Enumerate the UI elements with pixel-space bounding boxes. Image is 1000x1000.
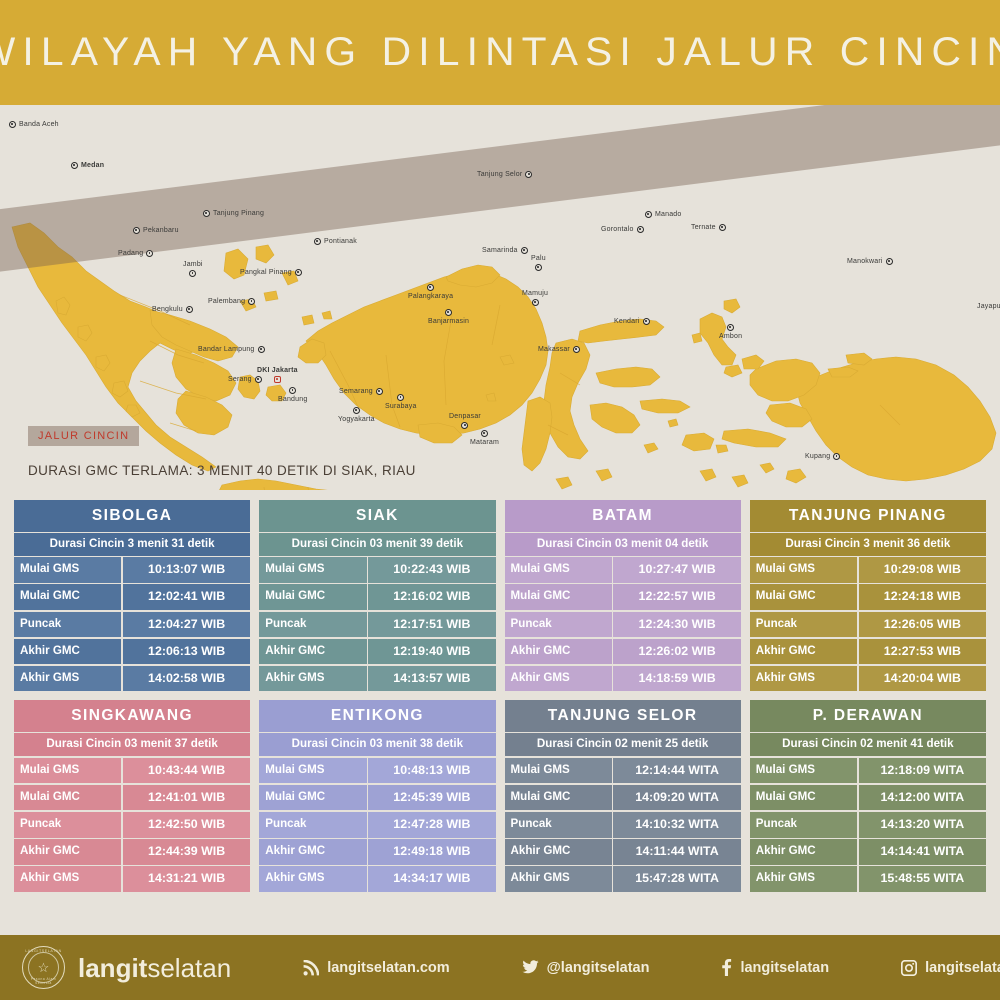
map-city-marker: DKI Jakarta — [257, 367, 298, 383]
social-label: langitselatanmedia — [925, 960, 1000, 976]
row-label: Mulai GMS — [14, 557, 121, 583]
row-label: Mulai GMS — [505, 758, 612, 784]
card-data-row: Puncak12:24:30 WIB — [505, 612, 741, 638]
row-value: 10:48:13 WIB — [368, 758, 495, 784]
city-label: DKI Jakarta — [257, 367, 298, 374]
row-label: Puncak — [259, 812, 366, 838]
instagram-icon — [901, 960, 917, 976]
city-label: Ternate — [691, 224, 716, 231]
card-data-row: Akhir GMC12:19:40 WIB — [259, 639, 495, 665]
row-value: 12:27:53 WIB — [859, 639, 986, 665]
row-value: 15:48:55 WITA — [859, 866, 986, 892]
row-label: Mulai GMC — [259, 584, 366, 610]
row-value: 10:43:44 WIB — [123, 758, 250, 784]
row-label: Akhir GMC — [505, 839, 612, 865]
city-label: Serang — [228, 376, 252, 383]
card-data-row: Akhir GMS14:20:04 WIB — [750, 666, 986, 692]
social-label: langitselatan — [740, 960, 829, 976]
card-duration: Durasi Cincin 03 menit 04 detik — [505, 533, 741, 556]
city-dot-icon — [445, 309, 452, 316]
city-card: P. DERAWANDurasi Cincin 02 menit 41 deti… — [750, 700, 986, 891]
row-value: 14:09:20 WITA — [613, 785, 740, 811]
card-data-row: Akhir GMS15:47:28 WITA — [505, 866, 741, 892]
map-city-marker: Banjarmasin — [428, 309, 469, 325]
city-label: Tanjung Selor — [477, 171, 522, 178]
map-city-marker: Manado — [645, 211, 682, 218]
city-dot-icon — [314, 238, 321, 245]
row-label: Puncak — [505, 612, 612, 638]
city-dot-icon — [727, 324, 734, 331]
row-value: 14:13:57 WIB — [368, 666, 495, 692]
map-city-marker: Padang — [118, 250, 153, 257]
city-dot-icon — [203, 210, 210, 217]
card-city-name: TANJUNG SELOR — [505, 700, 741, 732]
row-value: 12:26:02 WIB — [613, 639, 740, 665]
map-city-marker: Bandar Lampung — [198, 346, 265, 353]
city-dot-icon — [9, 121, 16, 128]
city-label: Mamuju — [522, 290, 548, 297]
row-label: Mulai GMS — [750, 758, 857, 784]
city-dot-icon — [295, 269, 302, 276]
row-label: Akhir GMC — [750, 839, 857, 865]
city-dot-icon — [274, 376, 281, 383]
card-data-row: Puncak12:47:28 WIB — [259, 812, 495, 838]
city-label: Jambi — [183, 261, 203, 268]
card-data-row: Mulai GMS10:13:07 WIB — [14, 557, 250, 583]
city-label: Banjarmasin — [428, 318, 469, 325]
card-data-row: Akhir GMS14:34:17 WIB — [259, 866, 495, 892]
city-dot-icon — [637, 226, 644, 233]
map-city-marker: Gorontalo — [601, 226, 644, 233]
row-value: 12:16:02 WIB — [368, 584, 495, 610]
city-dot-icon — [481, 430, 488, 437]
row-value: 12:22:57 WIB — [613, 584, 740, 610]
city-card: ENTIKONGDurasi Cincin 03 menit 38 detikM… — [259, 700, 495, 891]
row-label: Akhir GMC — [259, 639, 366, 665]
legend-jalur-cincin: JALUR CINCIN — [28, 426, 139, 446]
card-duration: Durasi Cincin 03 menit 39 detik — [259, 533, 495, 556]
card-data-row: Mulai GMS10:22:43 WIB — [259, 557, 495, 583]
row-label: Akhir GMS — [750, 666, 857, 692]
row-label: Mulai GMS — [505, 557, 612, 583]
card-data-row: Akhir GMS14:13:57 WIB — [259, 666, 495, 692]
city-dot-icon — [461, 422, 468, 429]
row-value: 12:18:09 WITA — [859, 758, 986, 784]
card-data-row: Akhir GMC12:26:02 WIB — [505, 639, 741, 665]
card-duration: Durasi Cincin 02 menit 25 detik — [505, 733, 741, 756]
city-label: Kupang — [805, 453, 830, 460]
city-label: Palu — [531, 255, 546, 262]
row-label: Puncak — [750, 612, 857, 638]
page-title: WILAYAH YANG DILINTASI JALUR CINCIN — [0, 30, 1000, 75]
row-value: 10:27:47 WIB — [613, 557, 740, 583]
card-data-row: Puncak12:26:05 WIB — [750, 612, 986, 638]
card-data-row: Puncak12:17:51 WIB — [259, 612, 495, 638]
row-value: 12:02:41 WIB — [123, 584, 250, 610]
city-label: Manokwari — [847, 258, 883, 265]
row-value: 12:42:50 WIB — [123, 812, 250, 838]
seal-bottom-text: Pesona Alam Semesta — [23, 977, 64, 985]
map-city-marker: Denpasar — [449, 413, 481, 429]
city-dot-icon — [189, 270, 196, 277]
card-data-row: Mulai GMC12:24:18 WIB — [750, 584, 986, 610]
row-value: 15:47:28 WITA — [613, 866, 740, 892]
social-link-twitter[interactable]: @langitselatan — [522, 960, 650, 976]
city-card: SINGKAWANGDurasi Cincin 03 menit 37 deti… — [14, 700, 250, 891]
langitselatan-seal-icon: LANGITSELATAN ☆ Pesona Alam Semesta — [22, 946, 65, 989]
row-value: 14:13:20 WITA — [859, 812, 986, 838]
card-data-row: Akhir GMC12:06:13 WIB — [14, 639, 250, 665]
row-label: Akhir GMS — [750, 866, 857, 892]
city-dot-icon — [186, 306, 193, 313]
map-city-marker: Ternate — [691, 224, 726, 231]
city-label: Padang — [118, 250, 143, 257]
brand-light: selatan — [147, 953, 231, 983]
city-dot-icon — [427, 284, 434, 291]
map-city-marker: Makassar — [538, 346, 580, 353]
card-data-row: Akhir GMS14:02:58 WIB — [14, 666, 250, 692]
city-label: Palembang — [208, 298, 245, 305]
social-link-rss[interactable]: langitselatan.com — [303, 960, 449, 976]
card-data-row: Akhir GMC12:27:53 WIB — [750, 639, 986, 665]
card-duration: Durasi Cincin 3 menit 36 detik — [750, 533, 986, 556]
row-label: Akhir GMC — [750, 639, 857, 665]
city-label: Pangkal Pinang — [240, 269, 292, 276]
map-city-marker: Palembang — [208, 298, 255, 305]
social-label: langitselatan.com — [327, 960, 449, 976]
city-label: Bandar Lampung — [198, 346, 255, 353]
card-data-row: Mulai GMS10:27:47 WIB — [505, 557, 741, 583]
card-duration: Durasi Cincin 03 menit 38 detik — [259, 733, 495, 756]
card-data-row: Mulai GMS12:14:44 WITA — [505, 758, 741, 784]
card-data-row: Mulai GMS12:18:09 WITA — [750, 758, 986, 784]
card-duration: Durasi Cincin 02 menit 41 detik — [750, 733, 986, 756]
card-data-row: Akhir GMS15:48:55 WITA — [750, 866, 986, 892]
row-label: Puncak — [14, 812, 121, 838]
city-dot-icon — [289, 387, 296, 394]
social-link-instagram[interactable]: langitselatanmedia — [901, 960, 1000, 976]
row-label: Mulai GMS — [14, 758, 121, 784]
row-value: 12:24:18 WIB — [859, 584, 986, 610]
row-label: Akhir GMS — [14, 666, 121, 692]
map-city-marker: Kendari — [614, 318, 650, 325]
city-label: Ambon — [719, 333, 742, 340]
row-label: Mulai GMC — [505, 584, 612, 610]
card-duration: Durasi Cincin 3 menit 31 detik — [14, 533, 250, 556]
card-data-row: Akhir GMS14:18:59 WIB — [505, 666, 741, 692]
row-label: Mulai GMS — [259, 758, 366, 784]
card-city-name: BATAM — [505, 500, 741, 532]
city-label: Jayapura — [977, 303, 1000, 310]
facebook-icon — [721, 959, 732, 976]
card-data-row: Akhir GMC12:49:18 WIB — [259, 839, 495, 865]
city-dot-icon — [353, 407, 360, 414]
map-caption: DURASI GMC TERLAMA: 3 MENIT 40 DETIK DI … — [28, 463, 416, 478]
city-dot-icon — [833, 453, 840, 460]
city-dot-icon — [521, 247, 528, 254]
city-label: Medan — [81, 162, 104, 169]
city-label: Palangkaraya — [408, 293, 453, 300]
card-data-row: Puncak12:42:50 WIB — [14, 812, 250, 838]
card-data-row: Mulai GMC14:09:20 WITA — [505, 785, 741, 811]
row-value: 14:20:04 WIB — [859, 666, 986, 692]
row-value: 14:11:44 WITA — [613, 839, 740, 865]
map-city-marker: Pangkal Pinang — [240, 269, 302, 276]
page-header: WILAYAH YANG DILINTASI JALUR CINCIN — [0, 0, 1000, 105]
row-value: 12:14:44 WITA — [613, 758, 740, 784]
social-link-facebook[interactable]: langitselatan — [721, 959, 829, 976]
row-label: Mulai GMS — [259, 557, 366, 583]
map-city-marker: Pekanbaru — [133, 227, 179, 234]
map-city-marker: Jayapura — [977, 303, 1000, 310]
city-dot-icon — [146, 250, 153, 257]
city-card: BATAMDurasi Cincin 03 menit 04 detikMula… — [505, 500, 741, 691]
map-city-marker: Tanjung Pinang — [203, 210, 264, 217]
row-label: Mulai GMS — [750, 557, 857, 583]
map-city-marker: Palu — [531, 255, 546, 271]
row-value: 12:45:39 WIB — [368, 785, 495, 811]
row-value: 12:41:01 WIB — [123, 785, 250, 811]
card-data-row: Mulai GMS10:29:08 WIB — [750, 557, 986, 583]
row-value: 12:04:27 WIB — [123, 612, 250, 638]
card-data-row: Mulai GMC12:41:01 WIB — [14, 785, 250, 811]
map-city-marker: Samarinda — [482, 247, 528, 254]
city-dot-icon — [643, 318, 650, 325]
card-data-row: Puncak12:04:27 WIB — [14, 612, 250, 638]
city-label: Bandung — [278, 396, 307, 403]
row-value: 10:29:08 WIB — [859, 557, 986, 583]
map-city-marker: Bengkulu — [152, 306, 193, 313]
map-city-marker: Semarang — [339, 388, 383, 395]
card-data-row: Akhir GMS14:31:21 WIB — [14, 866, 250, 892]
card-city-name: ENTIKONG — [259, 700, 495, 732]
social-label: @langitselatan — [547, 960, 650, 976]
row-value: 12:47:28 WIB — [368, 812, 495, 838]
city-dot-icon — [532, 299, 539, 306]
row-label: Akhir GMS — [505, 666, 612, 692]
card-city-name: SINGKAWANG — [14, 700, 250, 732]
map-city-marker: Bandung — [278, 387, 307, 403]
social-links: langitselatan.com@langitselatanlangitsel… — [231, 959, 1000, 976]
map-container: Banda AcehMedanTanjung PinangPekanbaruPa… — [0, 105, 1000, 490]
city-card: SIBOLGADurasi Cincin 3 menit 31 detikMul… — [14, 500, 250, 691]
city-dot-icon — [71, 162, 78, 169]
card-data-row: Puncak14:10:32 WITA — [505, 812, 741, 838]
rss-icon — [303, 960, 319, 976]
map-city-marker: Mamuju — [522, 290, 548, 306]
card-city-name: SIBOLGA — [14, 500, 250, 532]
city-label: Bengkulu — [152, 306, 183, 313]
row-label: Puncak — [14, 612, 121, 638]
page-footer: LANGITSELATAN ☆ Pesona Alam Semesta lang… — [0, 935, 1000, 1000]
map-city-marker: Banda Aceh — [9, 121, 59, 128]
row-value: 12:17:51 WIB — [368, 612, 495, 638]
card-data-row: Mulai GMC12:22:57 WIB — [505, 584, 741, 610]
city-dot-icon — [397, 394, 404, 401]
city-dot-icon — [645, 211, 652, 218]
card-data-row: Mulai GMC14:12:00 WITA — [750, 785, 986, 811]
brand-logo: LANGITSELATAN ☆ Pesona Alam Semesta lang… — [22, 946, 231, 989]
row-label: Mulai GMC — [750, 785, 857, 811]
twitter-icon — [522, 960, 539, 975]
row-value: 12:44:39 WIB — [123, 839, 250, 865]
city-card: SIAKDurasi Cincin 03 menit 39 detikMulai… — [259, 500, 495, 691]
city-label: Yogyakarta — [338, 416, 375, 423]
brand-wordmark: langitselatan — [78, 955, 231, 981]
row-label: Akhir GMS — [505, 866, 612, 892]
city-label: Makassar — [538, 346, 570, 353]
card-data-row: Puncak14:13:20 WITA — [750, 812, 986, 838]
row-value: 14:34:17 WIB — [368, 866, 495, 892]
row-value: 12:06:13 WIB — [123, 639, 250, 665]
row-value: 14:14:41 WITA — [859, 839, 986, 865]
city-label: Pontianak — [324, 238, 357, 245]
row-label: Mulai GMC — [505, 785, 612, 811]
card-data-row: Mulai GMS10:48:13 WIB — [259, 758, 495, 784]
row-value: 10:13:07 WIB — [123, 557, 250, 583]
row-label: Puncak — [750, 812, 857, 838]
row-value: 14:02:58 WIB — [123, 666, 250, 692]
row-label: Mulai GMC — [259, 785, 366, 811]
city-label: Gorontalo — [601, 226, 634, 233]
map-city-marker: Manokwari — [847, 258, 893, 265]
map-city-marker: Mataram — [470, 430, 499, 446]
row-label: Akhir GMC — [259, 839, 366, 865]
city-label: Samarinda — [482, 247, 518, 254]
brand-bold: langit — [78, 953, 147, 983]
card-data-row: Mulai GMC12:16:02 WIB — [259, 584, 495, 610]
row-value: 14:18:59 WIB — [613, 666, 740, 692]
map-legend: JALUR CINCIN — [28, 426, 139, 446]
map-city-marker: Pontianak — [314, 238, 357, 245]
row-label: Mulai GMC — [14, 785, 121, 811]
city-dot-icon — [886, 258, 893, 265]
map-city-marker: Jambi — [183, 261, 203, 277]
city-label: Manado — [655, 211, 682, 218]
city-dot-icon — [535, 264, 542, 271]
seal-top-text: LANGITSELATAN — [23, 949, 64, 953]
city-dot-icon — [258, 346, 265, 353]
city-label: Pekanbaru — [143, 227, 179, 234]
row-label: Akhir GMC — [14, 839, 121, 865]
city-label: Banda Aceh — [19, 121, 59, 128]
row-label: Akhir GMS — [14, 866, 121, 892]
city-dot-icon — [719, 224, 726, 231]
card-data-row: Akhir GMC12:44:39 WIB — [14, 839, 250, 865]
card-data-row: Mulai GMS10:43:44 WIB — [14, 758, 250, 784]
city-card: TANJUNG SELORDurasi Cincin 02 menit 25 d… — [505, 700, 741, 891]
city-label: Mataram — [470, 439, 499, 446]
city-dot-icon — [525, 171, 532, 178]
card-duration: Durasi Cincin 03 menit 37 detik — [14, 733, 250, 756]
city-cards-grid: SIBOLGADurasi Cincin 3 menit 31 detikMul… — [0, 490, 1000, 892]
row-value: 14:12:00 WITA — [859, 785, 986, 811]
card-data-row: Akhir GMC14:14:41 WITA — [750, 839, 986, 865]
city-dot-icon — [376, 388, 383, 395]
row-label: Akhir GMS — [259, 666, 366, 692]
row-value: 14:10:32 WITA — [613, 812, 740, 838]
card-data-row: Akhir GMC14:11:44 WITA — [505, 839, 741, 865]
indonesia-map-svg — [0, 105, 1000, 490]
row-value: 12:49:18 WIB — [368, 839, 495, 865]
row-label: Akhir GMC — [14, 639, 121, 665]
city-card: TANJUNG PINANGDurasi Cincin 3 menit 36 d… — [750, 500, 986, 691]
city-dot-icon — [248, 298, 255, 305]
city-label: Kendari — [614, 318, 640, 325]
map-city-marker: Ambon — [719, 324, 742, 340]
map-city-marker: Kupang — [805, 453, 840, 460]
map-city-marker: Surabaya — [385, 394, 417, 410]
city-label: Surabaya — [385, 403, 417, 410]
row-value: 12:26:05 WIB — [859, 612, 986, 638]
city-dot-icon — [133, 227, 140, 234]
map-city-marker: Medan — [71, 162, 104, 169]
city-label: Denpasar — [449, 413, 481, 420]
card-city-name: TANJUNG PINANG — [750, 500, 986, 532]
row-label: Mulai GMC — [750, 584, 857, 610]
city-label: Tanjung Pinang — [213, 210, 264, 217]
row-value: 10:22:43 WIB — [368, 557, 495, 583]
row-label: Akhir GMC — [505, 639, 612, 665]
map-city-marker: Tanjung Selor — [477, 171, 532, 178]
map-city-marker: Yogyakarta — [338, 407, 375, 423]
map-city-marker: Palangkaraya — [408, 284, 453, 300]
row-value: 14:31:21 WIB — [123, 866, 250, 892]
card-city-name: SIAK — [259, 500, 495, 532]
row-value: 12:19:40 WIB — [368, 639, 495, 665]
row-label: Akhir GMS — [259, 866, 366, 892]
card-data-row: Mulai GMC12:45:39 WIB — [259, 785, 495, 811]
card-city-name: P. DERAWAN — [750, 700, 986, 732]
card-data-row: Mulai GMC12:02:41 WIB — [14, 584, 250, 610]
city-label: Semarang — [339, 388, 373, 395]
row-label: Puncak — [505, 812, 612, 838]
row-label: Mulai GMC — [14, 584, 121, 610]
city-dot-icon — [573, 346, 580, 353]
row-label: Puncak — [259, 612, 366, 638]
row-value: 12:24:30 WIB — [613, 612, 740, 638]
